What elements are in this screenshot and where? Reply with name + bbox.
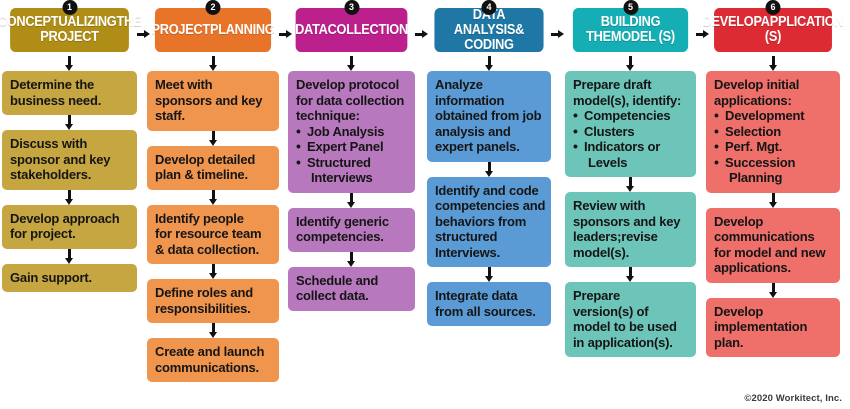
step-text-line: structured: [435, 229, 543, 245]
bullet-label: Competencies: [584, 108, 670, 123]
step-connector-arrow-down: [147, 264, 279, 279]
step-text-line: analysis and: [435, 124, 543, 140]
step-connector-arrow-down: [565, 267, 696, 282]
step-text-line: Identify generic: [296, 214, 407, 230]
stage-header-1[interactable]: 1CONCEPTUALIZINGTHE PROJECT: [2, 0, 137, 56]
step-text-line: Prepare draft: [573, 77, 688, 93]
process-step-box[interactable]: Identify genericcompetencies.: [288, 208, 415, 252]
step-connector-arrow-down: [706, 193, 840, 208]
bullet-label: Succession: [725, 155, 795, 170]
step-text-line: Interviews.: [435, 245, 543, 261]
process-flow-diagram: 1CONCEPTUALIZINGTHE PROJECTDetermine the…: [0, 0, 850, 409]
step-number-badge: 2: [206, 0, 221, 15]
step-text-line: Develop detailed: [155, 152, 271, 168]
process-step-box[interactable]: Discuss withsponsor and keystakeholders.: [2, 130, 137, 190]
step-text-line: for model and new: [714, 245, 832, 261]
header-line: CONCEPTUALIZING: [0, 14, 116, 30]
step-text-line: model to be used: [573, 319, 688, 335]
step-connector-arrow-down: [427, 267, 551, 282]
step-text-line: Analyze: [435, 77, 543, 93]
step-text-line: technique:: [296, 108, 407, 124]
header-line: PROJECT: [152, 22, 210, 38]
step-text-line: staff.: [155, 108, 271, 124]
step-number-badge: 1: [62, 0, 77, 15]
header-line: COLLECTION: [328, 22, 408, 38]
step-text-line: for resource team: [155, 226, 271, 242]
stage-connector-arrow-right: [415, 30, 428, 39]
step-number-badge: 4: [482, 0, 497, 15]
bullet-label: Expert Panel: [307, 139, 383, 154]
step-bullet-list: CompetenciesClustersIndicators orLevels: [573, 108, 688, 170]
step-text-line: implementation: [714, 319, 832, 335]
step-text-line: Develop: [714, 304, 832, 320]
step-text-line: competencies.: [296, 229, 407, 245]
step-text-line: Define roles and: [155, 285, 271, 301]
header-line: PLANNING: [210, 22, 275, 38]
step-text-line: business need.: [10, 93, 129, 109]
step-text-line: model(s).: [573, 245, 688, 261]
stage-connector-arrow-right: [551, 30, 564, 39]
step-connector-arrow-down: [288, 193, 415, 208]
process-column-5: 5BUILDING THEMODEL (S)Prepare draftmodel…: [565, 0, 696, 357]
step-text-line: & data collection.: [155, 242, 271, 258]
step-text-line: sponsors and key: [155, 93, 271, 109]
step-text-line: in application(s).: [573, 335, 688, 351]
step-text-line: Prepare: [573, 288, 688, 304]
process-step-box[interactable]: Identify and codecompetencies andbehavio…: [427, 177, 551, 268]
bullet-label: Clusters: [584, 124, 634, 139]
step-text-line: Develop protocol: [296, 77, 407, 93]
process-step-box[interactable]: Develop detailedplan & timeline.: [147, 146, 279, 190]
bullet-label-continued: Levels: [584, 155, 688, 171]
step-bullet-item: Competencies: [573, 108, 688, 124]
step-bullet-item: Indicators orLevels: [573, 139, 688, 170]
process-step-box[interactable]: Gain support.: [2, 264, 137, 293]
step-text-line: obtained from job: [435, 108, 543, 124]
step-text-line: applications.: [714, 260, 832, 276]
step-text-line: competencies and: [435, 198, 543, 214]
step-text-line: Create and launch: [155, 344, 271, 360]
header-line: DEVELOP: [703, 14, 761, 30]
step-text-line: Determine the: [10, 77, 129, 93]
step-bullet-item: Clusters: [573, 124, 688, 140]
step-connector-arrow-down: [706, 56, 840, 71]
process-step-box[interactable]: Define roles andresponsibilities.: [147, 279, 279, 323]
step-text-line: version(s) of: [573, 304, 688, 320]
process-step-box[interactable]: Determine thebusiness need.: [2, 71, 137, 115]
step-number-badge: 5: [623, 0, 638, 15]
process-step-box[interactable]: Identify peoplefor resource team& data c…: [147, 205, 279, 265]
step-text-line: for data collection: [296, 93, 407, 109]
step-number-badge: 3: [344, 0, 359, 15]
step-connector-arrow-down: [147, 323, 279, 338]
stage-header-5[interactable]: 5BUILDING THEMODEL (S): [565, 0, 696, 56]
bullet-label: Development: [725, 108, 804, 123]
step-text-line: sponsor and key: [10, 152, 129, 168]
step-connector-arrow-down: [706, 283, 840, 298]
step-text-line: from all sources.: [435, 304, 543, 320]
step-number-badge: 6: [766, 0, 781, 15]
step-text-line: information: [435, 93, 543, 109]
step-text-line: leaders;revise: [573, 229, 688, 245]
bullet-label: Job Analysis: [307, 124, 384, 139]
step-bullet-item: Expert Panel: [296, 139, 407, 155]
header-line: DATA: [295, 22, 327, 38]
step-text-line: Review with: [573, 198, 688, 214]
step-text-line: Gain support.: [10, 270, 129, 286]
stage-header-2[interactable]: 2PROJECTPLANNING: [147, 0, 279, 56]
step-text-line: Identify people: [155, 211, 271, 227]
process-column-4: 4DATA ANALYSIS& CODINGAnalyzeinformation…: [427, 0, 551, 326]
bullet-label-continued: Interviews: [307, 170, 407, 186]
step-connector-arrow-down: [427, 56, 551, 71]
step-bullet-item: Selection: [714, 124, 832, 140]
bullet-label: Structured: [307, 155, 371, 170]
process-step-box[interactable]: Analyzeinformationobtained from jobanaly…: [427, 71, 551, 162]
process-step-box[interactable]: Developimplementationplan.: [706, 298, 840, 358]
step-connector-arrow-down: [147, 56, 279, 71]
step-text-line: expert panels.: [435, 139, 543, 155]
stage-header-3[interactable]: 3DATACOLLECTION: [288, 0, 415, 56]
header-line: MODEL (S): [611, 29, 675, 45]
step-text-line: Identify and code: [435, 183, 543, 199]
step-connector-arrow-down: [2, 115, 137, 130]
step-bullet-list: DevelopmentSelectionPerf. Mgt.Succession…: [714, 108, 832, 186]
process-step-box[interactable]: Develop approachfor project.: [2, 205, 137, 249]
step-connector-arrow-down: [147, 131, 279, 146]
process-column-6: 6DEVELOPAPPLICATION (S)Develop initialap…: [706, 0, 840, 357]
step-connector-arrow-down: [288, 56, 415, 71]
step-text-line: Develop initial: [714, 77, 832, 93]
step-bullet-item: SuccessionPlanning: [714, 155, 832, 186]
process-step-box[interactable]: Create and launchcommunications.: [147, 338, 279, 382]
process-column-1: 1CONCEPTUALIZINGTHE PROJECTDetermine the…: [2, 0, 137, 292]
stage-connector-arrow-right: [137, 30, 150, 39]
bullet-label: Indicators or: [584, 139, 660, 154]
bullet-label: Perf. Mgt.: [725, 139, 782, 154]
step-bullet-item: StructuredInterviews: [296, 155, 407, 186]
process-step-box[interactable]: Develop protocolfor data collectiontechn…: [288, 71, 415, 193]
step-bullet-item: Job Analysis: [296, 124, 407, 140]
process-column-3: 3DATACOLLECTIONDevelop protocolfor data …: [288, 0, 415, 311]
step-text-line: communications: [714, 229, 832, 245]
process-column-2: 2PROJECTPLANNINGMeet withsponsors and ke…: [147, 0, 279, 382]
step-text-line: Schedule and: [296, 273, 407, 289]
bullet-label: Selection: [725, 124, 781, 139]
step-text-line: responsibilities.: [155, 301, 271, 317]
step-connector-arrow-down: [147, 190, 279, 205]
step-text-line: applications:: [714, 93, 832, 109]
step-text-line: for project.: [10, 226, 129, 242]
process-step-box[interactable]: Schedule andcollect data.: [288, 267, 415, 311]
header-line: APPLICATION (S): [761, 14, 844, 45]
step-text-line: Develop approach: [10, 211, 129, 227]
bullet-label-continued: Planning: [725, 170, 832, 186]
process-step-box[interactable]: Meet withsponsors and keystaff.: [147, 71, 279, 131]
step-connector-arrow-down: [565, 56, 696, 71]
step-connector-arrow-down: [2, 56, 137, 71]
step-text-line: plan & timeline.: [155, 167, 271, 183]
step-connector-arrow-down: [2, 249, 137, 264]
step-text-line: plan.: [714, 335, 832, 351]
stage-connector-arrow-right: [696, 30, 709, 39]
process-step-box[interactable]: Develop initialapplications:DevelopmentS…: [706, 71, 840, 193]
process-step-box[interactable]: Review withsponsors and keyleaders;revis…: [565, 192, 696, 267]
step-text-line: stakeholders.: [10, 167, 129, 183]
step-connector-arrow-down: [288, 252, 415, 267]
step-text-line: communications.: [155, 360, 271, 376]
process-step-box[interactable]: Prepareversion(s) ofmodel to be usedin a…: [565, 282, 696, 357]
step-text-line: Develop: [714, 214, 832, 230]
step-connector-arrow-down: [427, 162, 551, 177]
step-connector-arrow-down: [565, 177, 696, 192]
copyright-notice: ©2020 Workitect, Inc.: [744, 393, 842, 404]
stage-header-6[interactable]: 6DEVELOPAPPLICATION (S): [706, 0, 840, 56]
stage-header-4[interactable]: 4DATA ANALYSIS& CODING: [427, 0, 551, 56]
step-bullet-list: Job AnalysisExpert PanelStructuredInterv…: [296, 124, 407, 186]
step-text-line: collect data.: [296, 288, 407, 304]
step-text-line: sponsors and key: [573, 214, 688, 230]
process-step-box[interactable]: Prepare draftmodel(s), identify:Competen…: [565, 71, 696, 177]
step-connector-arrow-down: [2, 190, 137, 205]
stage-connector-arrow-right: [279, 30, 292, 39]
process-step-box[interactable]: Integrate datafrom all sources.: [427, 282, 551, 326]
step-text-line: Integrate data: [435, 288, 543, 304]
step-bullet-item: Development: [714, 108, 832, 124]
step-text-line: Meet with: [155, 77, 271, 93]
step-text-line: behaviors from: [435, 214, 543, 230]
step-text-line: model(s), identify:: [573, 93, 688, 109]
step-bullet-item: Perf. Mgt.: [714, 139, 832, 155]
step-text-line: Discuss with: [10, 136, 129, 152]
process-step-box[interactable]: Developcommunicationsfor model and newap…: [706, 208, 840, 283]
